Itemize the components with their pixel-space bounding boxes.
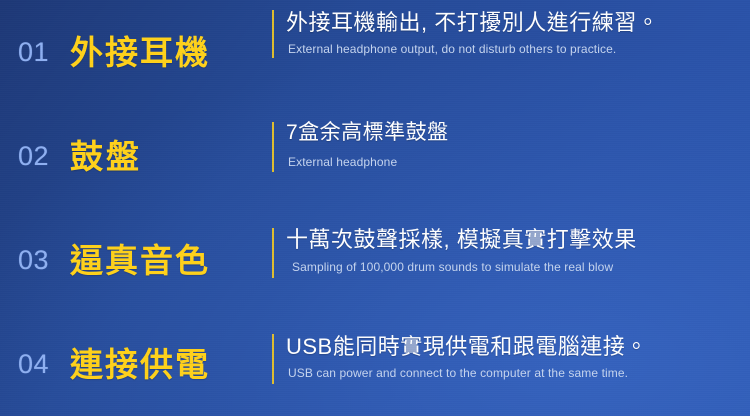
feature-title: 外接耳機 <box>70 36 210 69</box>
feature-subtitle: USB can power and connect to the compute… <box>288 366 628 380</box>
feature-subtitle: External headphone output, do not distur… <box>288 42 616 56</box>
feature-divider <box>272 228 274 278</box>
feature-description: 十萬次鼓聲採樣, 模擬真實打擊效果 <box>286 227 637 252</box>
feature-row: 01 外接耳機 外接耳機輸出, 不打擾別人進行練習。 External head… <box>0 0 750 104</box>
feature-row-right: 7盒余高標準鼓盤 External headphone <box>286 104 750 225</box>
feature-row: 02 鼓盤 7盒余高標準鼓盤 External headphone <box>0 104 750 208</box>
feature-divider <box>272 10 274 58</box>
feature-row: 03 逼真音色 十萬次鼓聲採樣, 模擬真實打擊效果 Sampling of 10… <box>0 208 750 312</box>
feature-title: 逼真音色 <box>70 244 210 277</box>
feature-row: 04 連接供電 USB能同時實現供電和跟電腦連接。 USB can power … <box>0 312 750 416</box>
feature-divider <box>272 334 274 384</box>
feature-index: 02 <box>18 143 66 170</box>
feature-row-left: 04 連接供電 <box>0 312 272 416</box>
feature-divider <box>272 122 274 172</box>
feature-description: 7盒余高標準鼓盤 <box>286 121 449 145</box>
feature-index: 01 <box>18 39 66 66</box>
feature-row-left: 02 鼓盤 <box>0 104 272 208</box>
feature-subtitle: Sampling of 100,000 drum sounds to simul… <box>292 260 613 274</box>
feature-subtitle: External headphone <box>288 155 397 169</box>
feature-row-right: USB能同時實現供電和跟電腦連接。 USB can power and conn… <box>286 312 750 416</box>
feature-row-right: 外接耳機輸出, 不打擾別人進行練習。 External headphone ou… <box>286 0 750 114</box>
feature-title: 連接供電 <box>70 348 210 381</box>
feature-index: 03 <box>18 247 66 274</box>
feature-row-left: 03 逼真音色 <box>0 208 272 312</box>
feature-index: 04 <box>18 351 66 378</box>
feature-description: 外接耳機輸出, 不打擾別人進行練習。 <box>286 10 659 35</box>
feature-title: 鼓盤 <box>70 140 142 173</box>
feature-row-left: 01 外接耳機 <box>0 0 272 104</box>
feature-description: USB能同時實現供電和跟電腦連接。 <box>286 334 648 359</box>
feature-banner: 01 外接耳機 外接耳機輸出, 不打擾別人進行練習。 External head… <box>0 0 750 416</box>
